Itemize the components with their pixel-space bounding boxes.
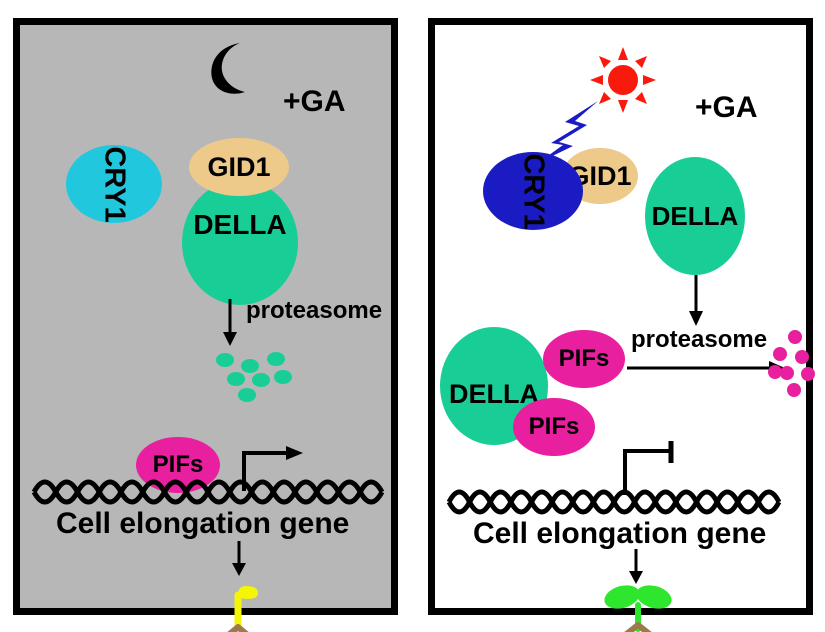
pifs-label-dark: PIFs (153, 453, 204, 477)
proteasome-arrow-light (627, 359, 787, 377)
moon-icon (200, 40, 252, 98)
photomorphogenic-seedling-icon (601, 581, 675, 632)
cry1-blob-light: CRY1 (483, 152, 583, 230)
cry1-label-light: CRY1 (519, 153, 548, 229)
light-panel: +GA GID1 CRY1 DELLA DELLA (428, 18, 813, 615)
night-panel: +GA CRY1 DELLA GID1 proteasome (13, 18, 398, 615)
pifs-label-light-lower: PIFs (529, 415, 580, 439)
gid1-label-dark: GID1 (207, 154, 270, 181)
cry1-blob-dark: CRY1 (66, 145, 162, 223)
light-panel-content: +GA GID1 CRY1 DELLA DELLA (435, 25, 806, 608)
gid1-blob-dark: GID1 (189, 138, 289, 196)
ga-label-dark: +GA (283, 87, 346, 117)
gene-label-light: Cell elongation gene (473, 519, 766, 549)
della-blob-light-free: DELLA (645, 157, 745, 275)
proteasome-arrow-dark (219, 299, 243, 347)
night-panel-content: +GA CRY1 DELLA GID1 proteasome (20, 25, 391, 608)
outcome-arrow-dark (228, 541, 252, 577)
della-label-dark: DELLA (193, 211, 286, 239)
etiolated-seedling-icon (210, 577, 272, 632)
dna-helix-light (449, 485, 779, 519)
gene-label-dark: Cell elongation gene (56, 509, 349, 539)
cry1-label-dark: CRY1 (100, 146, 129, 222)
ga-label-light: +GA (695, 93, 758, 123)
della-label-light-bound: DELLA (449, 381, 539, 408)
pifs-blob-light-lower: PIFs (513, 398, 595, 456)
pathway-diagram-figure: +GA CRY1 DELLA GID1 proteasome (0, 0, 825, 632)
pifs-label-light-upper: PIFs (559, 347, 610, 371)
della-label-light-free: DELLA (652, 203, 739, 229)
outcome-arrow-light (625, 549, 649, 585)
proteasome-label-dark: proteasome (246, 299, 382, 323)
proteasome-label-light: proteasome (631, 328, 767, 352)
pifs-blob-light-upper: PIFs (543, 330, 625, 388)
dna-helix-dark (34, 475, 382, 509)
della-blob-dark: DELLA (182, 180, 298, 305)
degradation-arrow-light (685, 275, 709, 327)
